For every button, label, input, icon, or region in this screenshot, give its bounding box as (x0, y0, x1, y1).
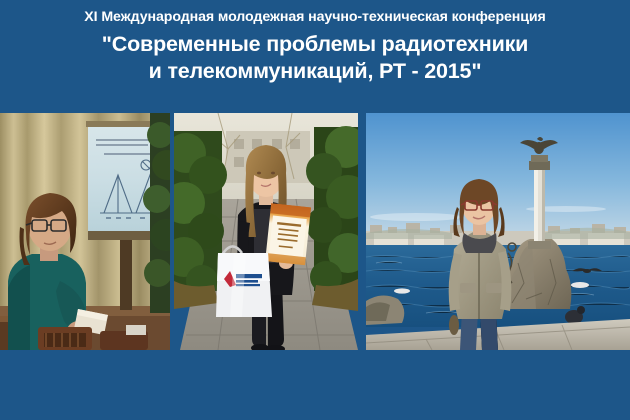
banner-header: XI Международная молодежная научно-техни… (0, 0, 630, 110)
photo-diploma (174, 113, 358, 350)
photo-presenter-image (0, 113, 170, 350)
photo-strip (0, 113, 630, 350)
photo-diploma-image (174, 113, 358, 350)
conference-banner: XI Международная молодежная научно-техни… (0, 0, 630, 420)
photo-monument-image (366, 113, 630, 350)
conference-subtitle: XI Международная молодежная научно-техни… (0, 9, 630, 26)
conference-title-line-1: "Современные проблемы радиотехники (0, 31, 630, 58)
conference-title-line-2: и телекоммуникаций, РТ - 2015" (0, 58, 630, 85)
photo-presenter (0, 113, 170, 350)
photo-monument (366, 113, 630, 350)
